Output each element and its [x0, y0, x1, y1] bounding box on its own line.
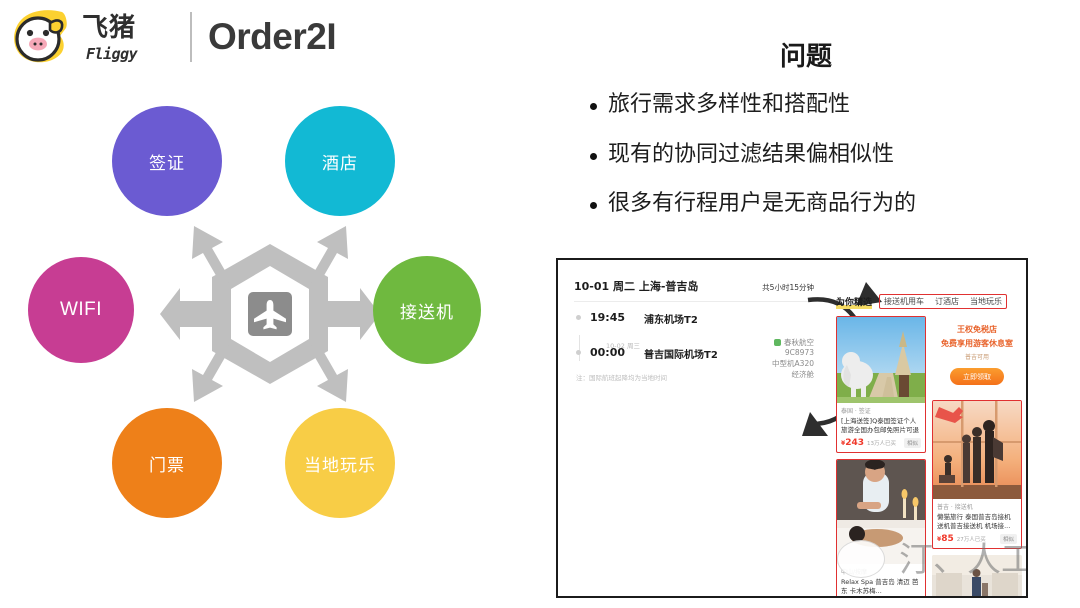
app-screenshot-panel: 10-01 周二 上海-普吉岛 共5小时15分钟 19:45 浦东机场T2 10…	[556, 258, 1028, 598]
product-category: 中山/按摩	[841, 567, 921, 576]
problem-bullet: 很多有行程用户是无商品行为的	[590, 190, 1056, 218]
problem-bullet: 现有的协同过滤结果偏相似性	[590, 141, 1056, 169]
six-way-arrow-hub-icon	[160, 204, 380, 424]
price-value: 243	[845, 438, 864, 448]
tab-local-fun[interactable]: 当地玩乐	[970, 296, 1002, 307]
flight-card-header: 10-01 周二 上海-普吉岛 共5小时15分钟	[574, 278, 814, 302]
spring-airlines-icon	[774, 339, 781, 346]
diagram-node-local-activities[interactable]: 当地玩乐	[285, 408, 395, 518]
problem-bullet-text: 现有的协同过滤结果偏相似性	[608, 141, 894, 169]
product-card-duty-free[interactable]	[932, 555, 1022, 598]
product-category: 泰国 · 签证	[841, 406, 921, 415]
diagram-node-label: 签证	[149, 149, 185, 174]
find-similar-button[interactable]: 相似	[1000, 534, 1017, 544]
problem-section: 问题 旅行需求多样性和搭配性 现有的协同过滤结果偏相似性 很多有行程用户是无商品…	[556, 36, 1056, 240]
problem-bullet-text: 很多有行程用户是无商品行为的	[608, 190, 916, 218]
recommendation-columns: 泰国 · 签证 [上海送签]Q泰国签证个人旅游全国办包邮免照片可退 ¥243 1…	[836, 316, 1022, 598]
page-title: Order2I	[208, 16, 336, 58]
product-body: 普吉 · 接送机 懒猫旅行 泰国普吉岛接机送机普吉接送机 机场接... ¥85 …	[933, 499, 1021, 548]
duty-free-shopping-photo	[932, 555, 1022, 598]
diagram-node-wifi[interactable]: WIFI	[28, 257, 134, 363]
product-title: Relax Spa 普吉岛 清迈 芭东 卡木苏梅...	[841, 578, 921, 596]
thai-temple-elephant-photo	[837, 317, 925, 403]
product-card-spa[interactable]: 中山/按摩 Relax Spa 普吉岛 清迈 芭东 卡木苏梅... ¥118 8…	[836, 459, 926, 598]
diagram-node-hotel[interactable]: 酒店	[285, 106, 395, 216]
bullet-dot-icon	[590, 103, 597, 110]
product-price: ¥85	[937, 534, 954, 544]
product-card-transfer[interactable]: 普吉 · 接送机 懒猫旅行 泰国普吉岛接机送机普吉接送机 机场接... ¥85 …	[932, 400, 1022, 549]
tab-book-hotel[interactable]: 订酒店	[935, 296, 959, 307]
bullet-dot-icon	[590, 202, 597, 209]
departure-time: 19:45	[590, 311, 644, 324]
duty-free-promo-card[interactable]: 王权免税店 免费享用游客休息室 普吉可用 立即领取	[932, 316, 1022, 394]
flight-departure-row: 19:45 浦东机场T2	[574, 311, 814, 326]
claim-now-button[interactable]: 立即领取	[950, 368, 1004, 385]
diagram-node-label: 酒店	[322, 149, 358, 174]
diagram-node-tickets[interactable]: 门票	[112, 408, 222, 518]
product-body: 中山/按摩 Relax Spa 普吉岛 清迈 芭东 卡木苏梅... ¥118 8…	[837, 564, 925, 598]
arrival-airport: 普吉国际机场T2	[644, 346, 718, 361]
departure-airport: 浦东机场T2	[644, 311, 698, 326]
diagram-node-label: 门票	[149, 451, 185, 476]
product-card-visa[interactable]: 泰国 · 签证 [上海送签]Q泰国签证个人旅游全国办包邮免照片可退 ¥243 1…	[836, 316, 926, 453]
product-sold-count: 27万人已买	[957, 535, 986, 543]
bullet-dot-icon	[590, 153, 597, 160]
flight-itinerary-card: 10-01 周二 上海-普吉岛 共5小时15分钟 19:45 浦东机场T2 10…	[574, 278, 814, 382]
thai-massage-spa-photo	[837, 460, 925, 564]
tab-airport-transfer[interactable]: 接送机用车	[884, 296, 924, 307]
brand-cn-label: 飞猪	[82, 15, 136, 41]
diagram-node-label: WIFI	[60, 299, 102, 321]
diagram-node-airport-transfer[interactable]: 接送机	[373, 256, 481, 364]
brand-header: 飞猪 Fliggy Order2I	[8, 6, 336, 68]
product-footer: ¥243 13万人已买 相似	[841, 438, 921, 448]
product-price: ¥243	[841, 438, 864, 448]
recommendation-column-right: 王权免税店 免费享用游客休息室 普吉可用 立即领取	[932, 316, 1022, 598]
product-sold-count: 13万人已买	[867, 439, 896, 447]
promo-line-2: 免费享用游客休息室	[936, 338, 1018, 349]
product-title: 懒猫旅行 泰国普吉岛接机送机普吉接送机 机场接...	[937, 513, 1017, 531]
diagram-node-label: 接送机	[400, 298, 454, 323]
recommendation-header: 为你精选 接送机用车 订酒店 当地玩乐	[836, 294, 1022, 309]
find-similar-button[interactable]: 相似	[904, 438, 921, 448]
problem-bullet: 旅行需求多样性和搭配性	[590, 91, 1056, 119]
recommendation-tabs: 接送机用车 订酒店 当地玩乐	[879, 294, 1007, 309]
product-category: 普吉 · 接送机	[937, 502, 1017, 511]
recommendation-title: 为你精选	[836, 295, 872, 309]
airport-travelers-sunset-photo	[933, 401, 1021, 499]
diagram-node-label: 当地玩乐	[304, 451, 376, 476]
flight-route-label: 10-01 周二 上海-普吉岛	[574, 278, 698, 294]
product-title: [上海送签]Q泰国签证个人旅游全国办包邮免照片可退	[841, 417, 921, 435]
problem-heading: 问题	[556, 36, 1056, 73]
travel-product-hub-diagram: 签证 酒店 WIFI 接送机 门票 当地玩乐	[0, 84, 540, 608]
brand-chinese-name: 飞猪 Fliggy	[80, 9, 176, 65]
brand-romanized-label: Fliggy	[86, 45, 137, 63]
product-body: 泰国 · 签证 [上海送签]Q泰国签证个人旅游全国办包邮免照片可退 ¥243 1…	[837, 403, 925, 452]
recommendation-column-left: 泰国 · 签证 [上海送签]Q泰国签证个人旅游全国办包邮免照片可退 ¥243 1…	[836, 316, 926, 598]
diagram-node-visa[interactable]: 签证	[112, 106, 222, 216]
recommendation-section: 为你精选 接送机用车 订酒店 当地玩乐	[836, 294, 1022, 598]
timeline-dot-icon	[576, 350, 581, 355]
promo-line-3: 普吉可用	[936, 352, 1018, 361]
brand-divider	[190, 12, 192, 62]
timeline-dot-icon	[576, 315, 581, 320]
problem-bullet-text: 旅行需求多样性和搭配性	[608, 91, 850, 119]
fliggy-pig-logo-icon	[8, 8, 70, 66]
arrival-daynote: 10-02 周三	[606, 340, 640, 350]
product-footer: ¥85 27万人已买 相似	[937, 534, 1017, 544]
promo-line-1: 王权免税店	[936, 324, 1018, 335]
price-value: 85	[941, 534, 954, 544]
